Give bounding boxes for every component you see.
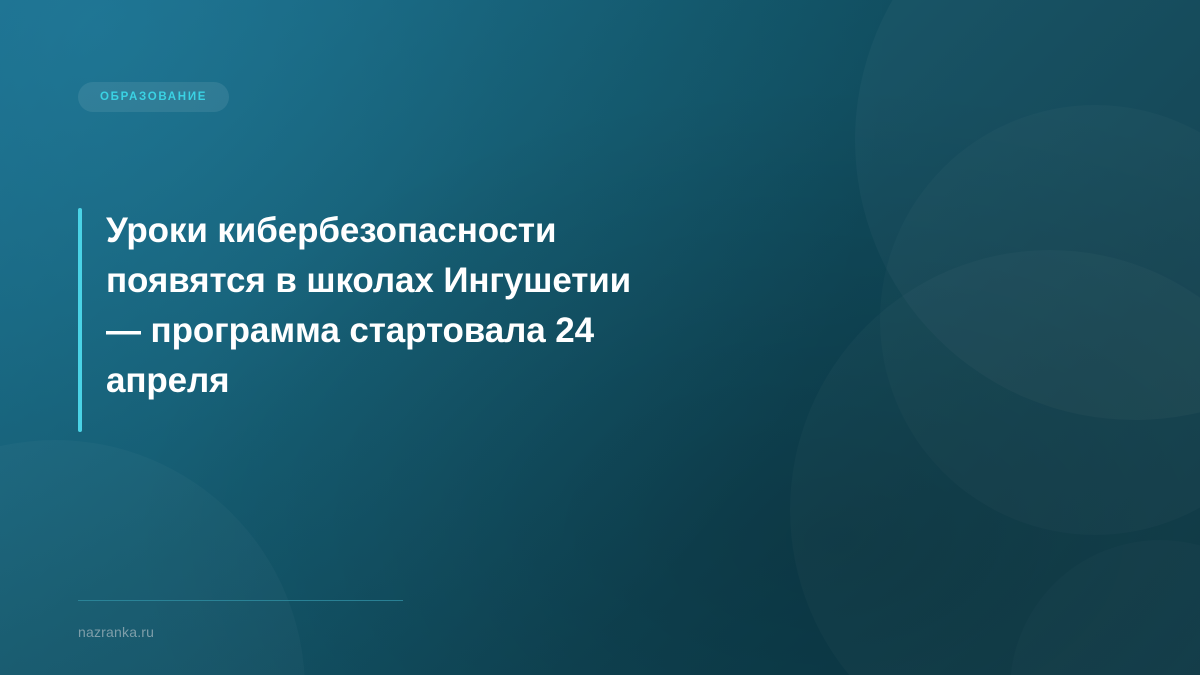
news-card: ОБРАЗОВАНИЕ Уроки кибербезопасности появ… — [0, 0, 1200, 675]
page-title: Уроки кибербезопасности появятся в школа… — [106, 206, 638, 406]
card-content: ОБРАЗОВАНИЕ Уроки кибербезопасности появ… — [0, 0, 1200, 675]
headline-block: Уроки кибербезопасности появятся в школа… — [78, 206, 638, 406]
footer-divider — [78, 600, 403, 601]
category-badge-label: ОБРАЗОВАНИЕ — [100, 91, 207, 103]
category-badge[interactable]: ОБРАЗОВАНИЕ — [78, 82, 229, 112]
accent-bar — [78, 208, 82, 432]
source-site-label: nazranka.ru — [78, 624, 154, 640]
